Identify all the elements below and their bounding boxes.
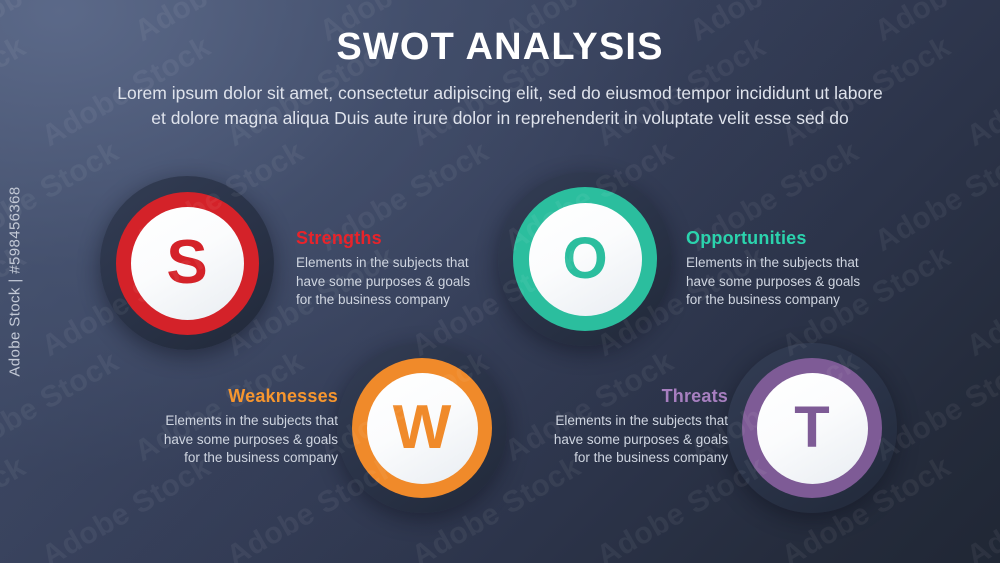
page-title: SWOT ANALYSIS: [0, 0, 1000, 69]
body-weaknesses-line-1: Elements in the subjects that: [128, 412, 338, 431]
body-strengths-line-3: for the business company: [296, 291, 506, 310]
badge-opportunities-core: O: [529, 203, 642, 316]
body-strengths-line-2: have some purposes & goals: [296, 273, 506, 292]
watermark-text: Adobe Stock: [869, 555, 1000, 563]
body-opportunities-line-1: Elements in the subjects that: [686, 254, 896, 273]
subtitle-line-1: Lorem ipsum dolor sit amet, consectetur …: [45, 81, 955, 106]
badge-weaknesses: W: [337, 343, 507, 513]
body-strengths: Elements in the subjects that have some …: [296, 254, 506, 310]
badge-weaknesses-core: W: [367, 373, 478, 484]
watermark-text: Adobe Stock: [961, 240, 1000, 364]
badge-opportunities-ring: O: [513, 187, 657, 331]
stock-credit: Adobe Stock | #598456368: [0, 0, 31, 563]
body-opportunities: Elements in the subjects that have some …: [686, 254, 896, 310]
badge-weaknesses-ring: W: [352, 358, 492, 498]
body-threats-line-1: Elements in the subjects that: [518, 412, 728, 431]
badge-threats: T: [727, 343, 897, 513]
body-threats-line-2: have some purposes & goals: [518, 431, 728, 450]
body-threats-line-3: for the business company: [518, 449, 728, 468]
block-opportunities: Opportunities Elements in the subjects t…: [686, 228, 896, 310]
body-opportunities-line-2: have some purposes & goals: [686, 273, 896, 292]
badge-strengths-letter: S: [166, 232, 207, 294]
subtitle-line-2: et dolore magna aliqua Duis aute irure d…: [45, 106, 955, 131]
heading-opportunities: Opportunities: [686, 228, 896, 249]
watermark-text: Adobe Stock: [499, 555, 680, 563]
watermark-text: Adobe Stock: [129, 555, 310, 563]
badge-strengths-ring: S: [116, 192, 259, 335]
header: SWOT ANALYSIS Lorem ipsum dolor sit amet…: [0, 0, 1000, 130]
body-threats: Elements in the subjects that have some …: [518, 412, 728, 468]
badge-threats-core: T: [757, 373, 868, 484]
badge-strengths-core: S: [131, 207, 244, 320]
block-weaknesses: Weaknesses Elements in the subjects that…: [128, 386, 338, 468]
page-subtitle: Lorem ipsum dolor sit amet, consectetur …: [45, 81, 955, 131]
block-threats: Threats Elements in the subjects that ha…: [518, 386, 728, 468]
body-weaknesses-line-2: have some purposes & goals: [128, 431, 338, 450]
badge-threats-letter: T: [794, 399, 829, 457]
badge-weaknesses-letter: W: [393, 397, 452, 459]
heading-strengths: Strengths: [296, 228, 506, 249]
badge-threats-ring: T: [742, 358, 882, 498]
block-strengths: Strengths Elements in the subjects that …: [296, 228, 506, 310]
badge-opportunities-letter: O: [562, 230, 607, 288]
badge-strengths: S: [100, 176, 274, 350]
body-strengths-line-1: Elements in the subjects that: [296, 254, 506, 273]
watermark-text: Adobe Stock: [961, 450, 1000, 563]
heading-weaknesses: Weaknesses: [128, 386, 338, 407]
heading-threats: Threats: [518, 386, 728, 407]
badge-opportunities: O: [498, 172, 672, 346]
watermark-text: Adobe Stock: [314, 555, 495, 563]
stock-credit-text: Adobe Stock | #598456368: [7, 186, 24, 376]
body-weaknesses: Elements in the subjects that have some …: [128, 412, 338, 468]
body-weaknesses-line-3: for the business company: [128, 449, 338, 468]
watermark-text: Adobe Stock: [684, 555, 865, 563]
swot-infographic-canvas: SWOT ANALYSIS Lorem ipsum dolor sit amet…: [0, 0, 1000, 563]
body-opportunities-line-3: for the business company: [686, 291, 896, 310]
